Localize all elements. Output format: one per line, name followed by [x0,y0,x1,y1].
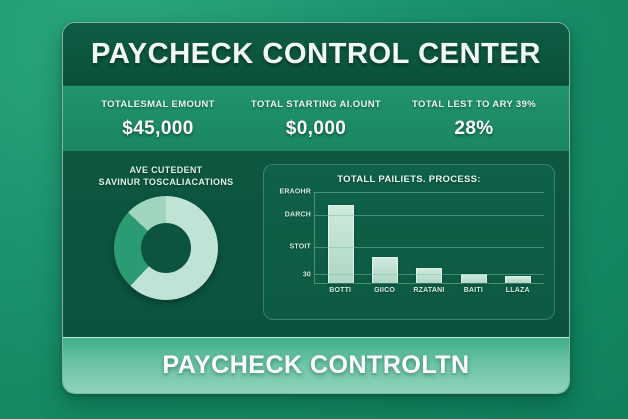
kpi-value-3: 28% [395,118,553,140]
y-axis-tick-label: 30 [303,271,311,278]
kpi-label-2: TOTAL STARTING AI.OUNT [237,99,395,110]
gridline [315,192,544,193]
y-axis-tick-label: ERAOHR [279,189,311,196]
x-axis-tick-label: BAITI [455,287,491,294]
donut-chart-caption: AVE CUTEDENT SAVINUR TOSCALIACATIONS [99,164,234,188]
footer-title: PAYCHECK CONTROLTN [162,351,469,380]
gridline [315,247,544,248]
x-axis-tick-label: GIICO [367,287,403,294]
bar-chart-panel: TOTALL PAILIETS. PROCESS: ERAOHRDARCHSTO… [263,164,555,320]
kpi-card-1: TOTALESMAL EMOUNT $45,000 [79,97,237,140]
card-header: PAYCHECK CONTROL CENTER [63,23,569,85]
bar[interactable] [416,268,442,283]
donut-chart-panel: AVE CUTEDENT SAVINUR TOSCALIACATIONS [77,164,255,300]
bar-chart-plot: ERAOHRDARCHSTOIT30 [274,192,544,284]
bar-chart-bars [315,192,544,283]
y-axis-tick-label: STOIT [290,244,311,251]
kpi-strip: TOTALESMAL EMOUNT $45,000 TOTAL STARTING… [63,85,569,152]
kpi-value-2: $0,000 [237,118,395,140]
bar[interactable] [505,276,531,283]
screenshot-root: PAYCHECK CONTROL CENTER TOTALESMAL EMOUN… [0,0,628,419]
kpi-label-1: TOTALESMAL EMOUNT [79,99,237,110]
kpi-card-2: TOTAL STARTING AI.OUNT $0,000 [237,97,395,140]
kpi-card-3: TOTAL LEST TO ARY 39% 28% [395,97,553,140]
donut-chart [114,196,218,300]
kpi-label-3: TOTAL LEST TO ARY 39% [395,99,553,110]
x-axis-tick-label: BOTTI [322,287,358,294]
bar[interactable] [372,257,398,283]
bar[interactable] [461,274,487,283]
donut-hole [141,223,191,273]
kpi-value-1: $45,000 [79,118,237,140]
bar[interactable] [328,205,354,283]
page-title: PAYCHECK CONTROL CENTER [91,38,541,71]
donut-caption-line-1: AVE CUTEDENT [99,164,234,176]
bar-chart-plot-area [314,192,544,284]
card-body: AVE CUTEDENT SAVINUR TOSCALIACATIONS TOT… [63,152,569,337]
donut-caption-line-2: SAVINUR TOSCALIACATIONS [99,176,234,188]
y-axis-tick-label: DARCH [285,212,311,219]
x-axis-tick-label: LLAZA [500,287,536,294]
card-footer: PAYCHECK CONTROLTN [63,337,569,393]
bar-chart-x-axis: BOTTIGIICORZATANIBAITILLAZA [314,287,544,294]
dashboard-card: PAYCHECK CONTROL CENTER TOTALESMAL EMOUN… [62,22,570,394]
bar-chart-title: TOTALL PAILIETS. PROCESS: [274,174,544,185]
bar-chart-y-axis: ERAOHRDARCHSTOIT30 [274,192,314,284]
gridline [315,274,544,275]
x-axis-tick-label: RZATANI [411,287,447,294]
gridline [315,215,544,216]
